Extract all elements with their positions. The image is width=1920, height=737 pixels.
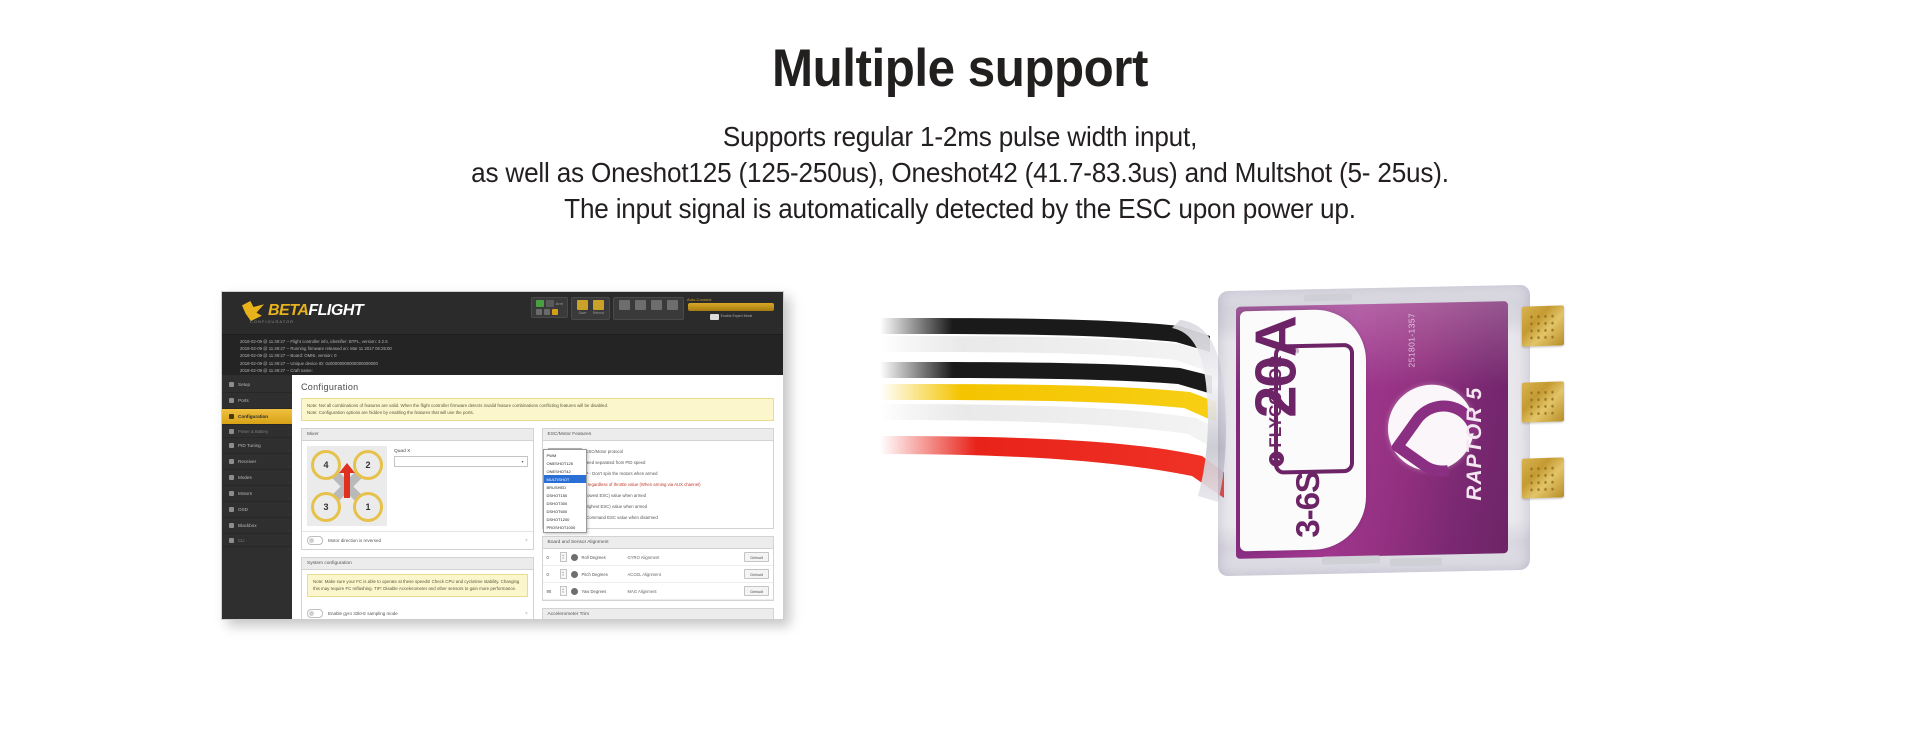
yaw-degrees-value[interactable]: 90 <box>547 589 556 594</box>
sidebar-item-label: Motors <box>238 491 252 496</box>
mixer-panel: Mixer 4 2 3 1 <box>301 428 534 550</box>
alignment-row[interactable]: 90 ▲▼ Yaw Degrees MAG Alignment Default <box>543 583 774 600</box>
note-line-2: Note: Configuration options are hidden b… <box>307 410 768 417</box>
save-icon[interactable]: Save <box>576 300 589 317</box>
configuration-right-column: ESC/Motor Features MULTISHOT ▾ ESC/Motor… <box>542 428 775 620</box>
stepper-icon[interactable]: ▲▼ <box>560 569 567 579</box>
yaw-degrees-label: Yaw Degrees <box>582 589 624 594</box>
sidebar-item-modes[interactable]: Modes <box>222 470 292 486</box>
system-configuration-panel: System configuration Note: Make sure you… <box>301 557 534 620</box>
esc-protocol-dropdown-menu[interactable]: PWM ONESHOT125 ONESHOT42 MULTISHOT BRUSH… <box>543 449 587 533</box>
pitch-axis-icon <box>571 571 578 578</box>
blackbox-icon <box>229 523 234 528</box>
mixer-type-select[interactable]: ▾ <box>394 456 528 467</box>
sidebar-item-osd[interactable]: OSD <box>222 502 292 518</box>
esc-serial-number: 251801-1357 <box>1406 313 1416 368</box>
betaflight-configurator-screenshot: BETAFLIGHT CONFIGURATOR Arm <box>221 291 784 620</box>
accel-status-led <box>536 309 542 315</box>
toolbar-secondary-icons[interactable] <box>613 297 684 320</box>
dropdown-option[interactable]: ONESHOT125 <box>544 459 586 467</box>
power-wire-red <box>880 436 1224 498</box>
mag-status-led <box>552 309 558 315</box>
dropdown-option-selected[interactable]: MULTISHOT <box>544 475 586 483</box>
sidebar-item-label: Setup <box>238 382 250 387</box>
subheadline-line-1: Supports regular 1-2ms pulse width input… <box>48 119 1872 155</box>
log-line: 2018-02-09 @ 11:49:27 -- Unique device I… <box>240 360 765 367</box>
betaflight-wordmark: BETAFLIGHT <box>268 302 363 320</box>
expert-mode-toggle[interactable]: Enable Expert Mode <box>710 314 753 320</box>
roll-axis-icon <box>571 554 578 561</box>
motor-4-icon: 4 <box>311 450 341 480</box>
sidebar-item-cli[interactable]: CLI <box>222 534 292 547</box>
help-icon[interactable]: ? <box>525 611 528 616</box>
app-body: Setup Ports Configuration Power & Batter… <box>222 375 783 620</box>
sidebar-item-blackbox[interactable]: Blackbox <box>222 518 292 534</box>
auto-connect-label: Auto-Connect <box>687 297 711 302</box>
battery-icon <box>229 429 234 434</box>
quad-mixer-diagram: 4 2 3 1 <box>307 446 387 526</box>
system-configuration-title: System configuration <box>302 558 533 570</box>
accel-alignment-default-button[interactable]: Default <box>744 569 769 579</box>
sidebar-item-ports[interactable]: Ports <box>222 393 292 409</box>
sidebar-item-label: Blackbox <box>238 523 257 528</box>
stepper-icon[interactable]: ▲▼ <box>560 586 567 596</box>
status-label-arm: Arm <box>556 301 563 306</box>
logo-tagline: CONFIGURATOR <box>250 319 294 324</box>
board-sensor-alignment-title: Board and Sensor Alignment <box>543 537 774 549</box>
yaw-axis-icon <box>571 588 578 595</box>
sidebar-item-label: PID Tuning <box>238 443 261 448</box>
mag-alignment-label: MAG Alignment <box>628 589 741 594</box>
solder-pad-1 <box>1522 305 1564 346</box>
sidebar-item-motors[interactable]: Motors <box>222 486 292 502</box>
gyro-32khz-toggle[interactable] <box>307 609 323 618</box>
motor-direction-label: Motor direction is reversed <box>328 538 381 543</box>
esc-motor-features-title: ESC/Motor Features <box>543 429 774 441</box>
esc-amperage-rating: 20A <box>1243 325 1310 418</box>
status-row-bottom <box>536 309 563 315</box>
baro-status-led <box>544 309 550 315</box>
alignment-row[interactable]: 0 ▲▼ Pitch Degrees ACCEL Alignment Defau… <box>543 566 774 583</box>
stepper-icon[interactable]: ▲▼ <box>560 552 567 562</box>
mixer-select-wrapper: Quad X ▾ <box>394 446 528 526</box>
accel-alignment-label: ACCEL Alignment <box>628 572 741 577</box>
chevron-down-icon: ▾ <box>521 459 523 464</box>
esc-series-name: RAPTOR 5 <box>1463 387 1487 501</box>
log-line: 2018-02-09 @ 11:49:27 -- Running firmwar… <box>240 345 765 352</box>
logo-beta-text: BETA <box>268 302 308 319</box>
sidebar-item-label: Receiver <box>238 459 256 464</box>
mag-alignment-default-button[interactable]: Default <box>744 586 769 596</box>
sidebar-item-label: Ports <box>238 398 249 403</box>
mixer-panel-body: 4 2 3 1 Quad X <box>302 441 533 531</box>
dropdown-option[interactable]: PWM <box>544 451 586 459</box>
pitch-degrees-value[interactable]: 0 <box>547 572 556 577</box>
status-indicator-group: Arm <box>531 297 568 318</box>
modes-icon <box>229 475 234 480</box>
download-icon[interactable] <box>634 300 647 317</box>
dropdown-option[interactable]: DSHOT300 <box>544 499 586 507</box>
heading-arrow-icon <box>344 472 350 498</box>
smd-component-bottom-1 <box>1322 555 1380 564</box>
subheadline-line-2: as well as Oneshot125 (125-250us), Onesh… <box>48 155 1872 191</box>
gyro-32khz-row[interactable]: Enable gyro 32kHz sampling mode ? <box>302 605 533 620</box>
mixer-panel-title: Mixer <box>302 429 533 441</box>
receiver-icon <box>229 459 234 464</box>
content-page-title: Configuration <box>301 382 774 392</box>
sidebar-item-label: OSD <box>238 507 248 512</box>
status-row-top: Arm <box>536 300 563 307</box>
dropdown-option[interactable]: DSHOT1200 <box>544 515 586 523</box>
app-toolbar: Arm Save Reboot <box>531 297 775 320</box>
connect-section[interactable]: Auto-Connect Enable Expert Mode <box>687 297 775 320</box>
help-icon[interactable]: ? <box>525 538 528 543</box>
esc-cell-count-rating: 3-6S <box>1289 454 1327 555</box>
sidebar-item-label: Modes <box>238 475 252 480</box>
expert-mode-switch[interactable] <box>710 314 719 320</box>
sidebar-item-power-battery[interactable]: Power & Battery <box>222 425 292 438</box>
motor-direction-toggle[interactable] <box>307 536 323 545</box>
firmware-icon[interactable] <box>618 300 631 317</box>
roll-degrees-label: Roll Degrees <box>582 555 624 560</box>
log-line: 2018-02-09 @ 11:49:27 -- Craft name: <box>240 367 765 374</box>
solder-pad-2 <box>1522 381 1564 422</box>
sidebar-item-configuration[interactable]: Configuration <box>222 409 292 425</box>
roll-degrees-value[interactable]: 0 <box>547 555 556 560</box>
cli-icon[interactable] <box>666 300 679 317</box>
log-line: 2018-02-09 @ 11:49:27 -- Flight controll… <box>240 338 765 345</box>
sidebar-item-label: CLI <box>238 538 245 543</box>
reboot-icon[interactable]: Reboot <box>592 300 605 317</box>
app-header: BETAFLIGHT CONFIGURATOR Arm <box>222 292 783 335</box>
dropdown-option[interactable]: PROSHOT1000 <box>544 523 586 531</box>
betaflight-app-window: BETAFLIGHT CONFIGURATOR Arm <box>221 291 784 620</box>
sidebar-item-receiver[interactable]: Receiver <box>222 454 292 470</box>
status-log-panel: 2018-02-09 @ 11:49:27 -- Flight controll… <box>222 335 783 375</box>
flycolor-swirl-logo-icon <box>1388 384 1474 472</box>
configuration-left-column: Mixer 4 2 3 1 <box>301 428 534 620</box>
betaflight-logo: BETAFLIGHT <box>242 301 363 321</box>
page-title: Multiple support <box>67 42 1853 95</box>
esc-solder-pads <box>1522 306 1564 534</box>
hero-text-block: Multiple support Supports regular 1-2ms … <box>0 42 1920 227</box>
toolbar-action-icons[interactable]: Save Reboot <box>571 297 610 320</box>
dropdown-option[interactable]: ONESHOT42 <box>544 467 586 475</box>
dropdown-option[interactable]: BRUSHED <box>544 483 586 491</box>
gyro-alignment-default-button[interactable]: Default <box>744 552 769 562</box>
pitch-degrees-label: Pitch Degrees <box>582 572 624 577</box>
esc-motor-features-body: MULTISHOT ▾ ESC/Motor protocol PWM ONESH… <box>543 441 774 528</box>
smd-component-bottom-2 <box>1390 557 1442 566</box>
tune-icon <box>229 443 234 448</box>
subheadline-line-3: The input signal is automatically detect… <box>48 191 1872 227</box>
sidebar-item-setup[interactable]: Setup <box>222 377 292 393</box>
logo-flight-text: FLIGHT <box>308 302 363 319</box>
configuration-main-content: Configuration Note: Not all combinations… <box>292 375 783 620</box>
gyro-status-led <box>546 300 554 307</box>
solder-pad-3 <box>1522 457 1564 498</box>
accelerometer-trim-panel: Accelerometer Trim 0 ▲▼ Accelerometer Ro… <box>542 608 775 620</box>
log-line: 2018-02-09 @ 11:49:27 -- Board: OMNI, ve… <box>240 352 765 359</box>
sidebar-item-label: Configuration <box>238 414 268 419</box>
wrench-icon <box>229 382 234 387</box>
sidebar-item-pid-tuning[interactable]: PID Tuning <box>222 438 292 454</box>
disconnect-icon[interactable] <box>650 300 663 317</box>
motor-icon <box>229 491 234 496</box>
mixer-row: 4 2 3 1 Quad X <box>307 446 528 526</box>
esc-motor-features-panel: ESC/Motor Features MULTISHOT ▾ ESC/Motor… <box>542 428 775 529</box>
alignment-row[interactable]: 0 ▲▼ Roll Degrees GYRO Alignment Default <box>543 549 774 566</box>
gyro-32khz-label: Enable gyro 32kHz sampling mode <box>328 611 398 616</box>
reboot-icon-label: Reboot <box>593 311 604 315</box>
save-icon-label: Save <box>579 311 587 315</box>
motor-1-icon: 1 <box>353 492 383 522</box>
ports-icon <box>229 398 234 403</box>
smd-component-top <box>1304 293 1352 301</box>
configuration-note-banner: Note: Not all combinations of features a… <box>301 398 774 421</box>
configuration-columns: Mixer 4 2 3 1 <box>301 428 774 620</box>
board-sensor-alignment-panel: Board and Sensor Alignment 0 ▲▼ Roll Deg… <box>542 536 775 601</box>
mixer-type-label: Quad X <box>394 449 528 454</box>
esc-circuit-board: 251801-1357 RAPTOR 5 FLYCOLOR ® 20A 3-6S <box>1218 288 1538 573</box>
esc-product-photo: 251801-1357 RAPTOR 5 FLYCOLOR ® 20A 3-6S <box>880 280 1640 580</box>
sliders-icon <box>229 414 234 419</box>
dropdown-option[interactable]: DSHOT600 <box>544 507 586 515</box>
dropdown-option[interactable]: DSHOT150 <box>544 491 586 499</box>
motor-2-icon: 2 <box>353 450 383 480</box>
betaflight-bird-icon <box>242 301 264 321</box>
arm-status-led <box>536 300 544 307</box>
esc-protocol-label: ESC/Motor protocol <box>586 449 624 454</box>
esc-white-label: FLYCOLOR ® 20A 3-6S <box>1240 309 1366 552</box>
osd-icon <box>229 507 234 512</box>
motor-3-icon: 3 <box>311 492 341 522</box>
note-line-1: Note: Not all combinations of features a… <box>307 403 768 410</box>
system-config-note: Note: Make sure your FC is able to opera… <box>307 574 528 597</box>
app-sidebar: Setup Ports Configuration Power & Batter… <box>222 375 292 620</box>
accelerometer-trim-title: Accelerometer Trim <box>543 609 774 620</box>
connect-button[interactable] <box>688 303 774 311</box>
motor-direction-row[interactable]: Motor direction is reversed ? <box>302 531 533 549</box>
cli-icon <box>229 538 234 543</box>
gyro-alignment-label: GYRO Alignment <box>628 555 741 560</box>
expert-mode-label: Enable Expert Mode <box>721 315 753 319</box>
subheadline-group: Supports regular 1-2ms pulse width input… <box>0 119 1920 227</box>
sidebar-item-label: Power & Battery <box>238 429 268 434</box>
